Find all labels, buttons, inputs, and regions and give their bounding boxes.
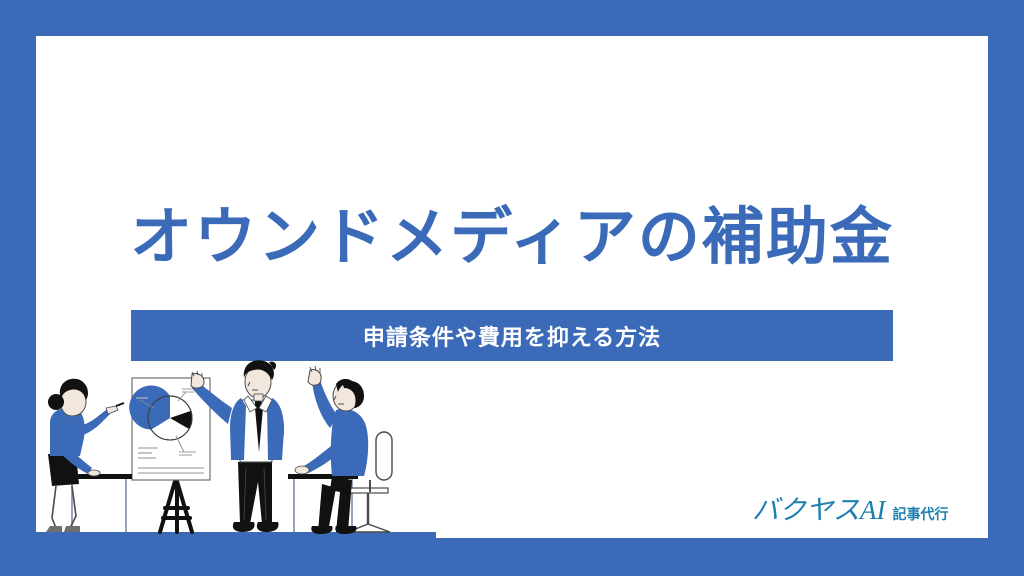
slide-canvas: オウンドメディアの補助金 申請条件や費用を抑える方法 バクヤスAI 記事代行	[36, 36, 988, 538]
floor-strip	[36, 532, 436, 538]
subtitle-text: 申請条件や費用を抑える方法	[363, 320, 661, 352]
flipchart	[129, 378, 210, 532]
slide-root: オウンドメディアの補助金 申請条件や費用を抑える方法 バクヤスAI 記事代行	[0, 0, 1024, 576]
page-title: オウンドメディアの補助金	[36, 204, 988, 269]
brand-logo: バクヤスAI 記事代行	[752, 488, 948, 527]
person-woman-pointing	[46, 379, 124, 532]
subtitle-banner: 申請条件や費用を抑える方法	[131, 310, 893, 361]
brand-logo-sub-text: 記事代行	[892, 504, 948, 524]
person-seated-raising-hand	[295, 366, 368, 534]
business-team-presentation-illustration	[36, 356, 436, 538]
brand-logo-main-text: バクヤスAI	[752, 488, 885, 527]
